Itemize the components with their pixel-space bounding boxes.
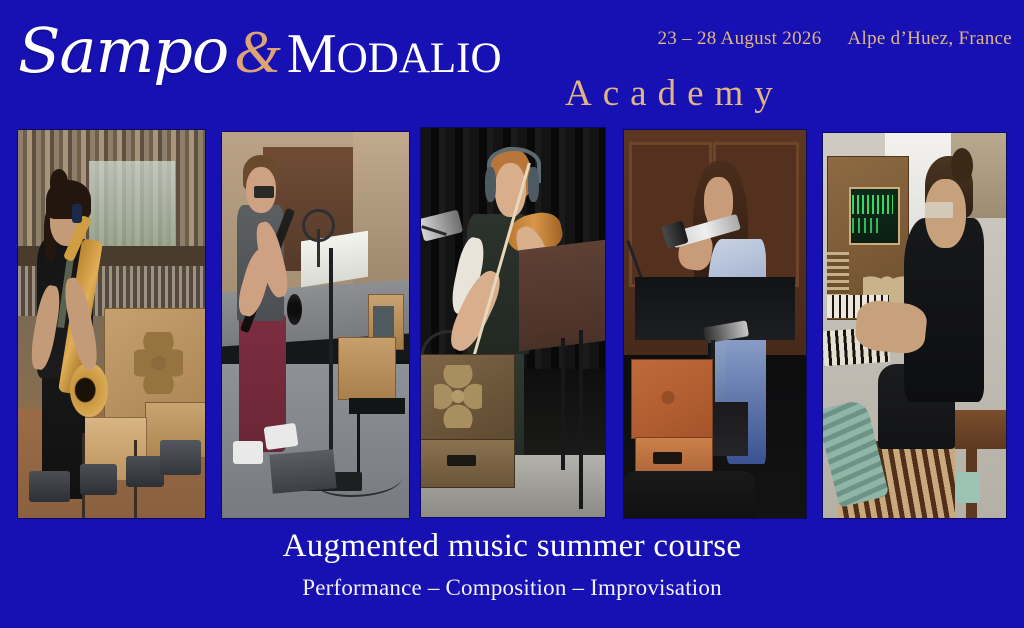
event-dates: 23 – 28 August 2026: [657, 28, 821, 49]
brand-caps-rest: ODALIO: [337, 35, 502, 82]
event-location: Alpe d’Huez, France: [848, 28, 1013, 49]
event-meta: 23 – 28 August 2026Alpe d’Huez, France: [657, 28, 1012, 50]
photo-scene-clarinet: [222, 132, 409, 518]
poster-header: Sampo&MODALIO 23 – 28 August 2026Alpe d’…: [0, 0, 1024, 128]
photo-scene-flute: [624, 130, 806, 518]
photo-panel-clarinet: [222, 132, 409, 518]
photo-scene-violin: [421, 128, 605, 517]
photo-panel-organ: [823, 133, 1006, 518]
course-subtagline: Performance – Composition – Improvisatio…: [0, 575, 1024, 601]
photo-panel-saxophone: [18, 130, 205, 518]
course-tagline: Augmented music summer course: [0, 528, 1024, 565]
photo-panel-violin: [421, 128, 605, 517]
brand-name-caps: MODALIO: [287, 23, 502, 85]
brand-ampersand: &: [228, 19, 287, 85]
photo-scene-saxophone: [18, 130, 205, 518]
photo-panel-flute: [624, 130, 806, 518]
brand-logo: Sampo&MODALIO: [18, 20, 502, 82]
brand-name-script: Sampo: [18, 14, 228, 87]
poster-canvas: Sampo&MODALIO 23 – 28 August 2026Alpe d’…: [0, 0, 1024, 628]
brand-caps-lead: M: [287, 23, 337, 85]
photo-scene-organ: [823, 133, 1006, 518]
photo-strip: [0, 126, 1024, 522]
academy-title: Academy: [565, 72, 784, 115]
